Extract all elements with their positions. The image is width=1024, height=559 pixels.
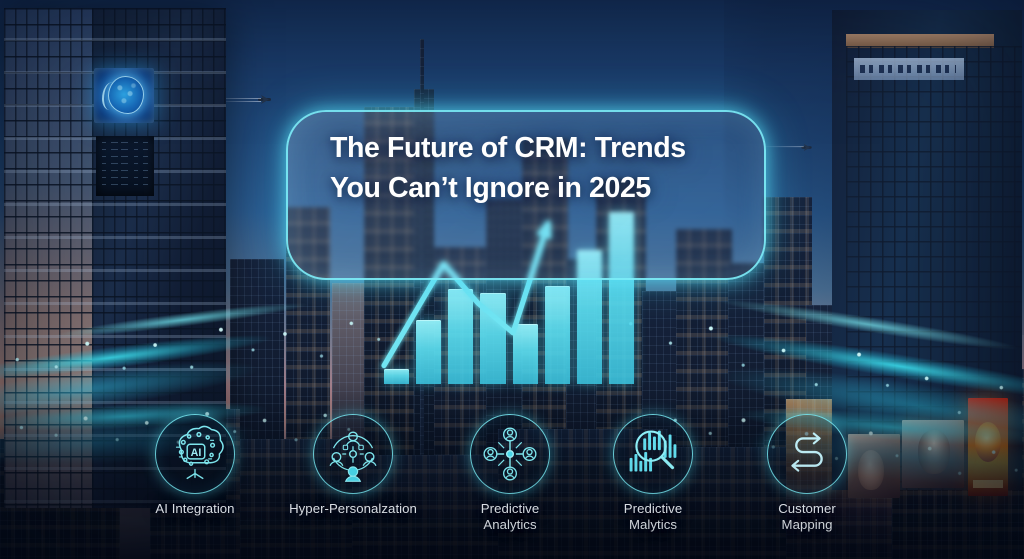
data-billboard <box>96 136 154 196</box>
feature-icon-row: AI AI Integration <box>0 414 1024 544</box>
feature-item-predictive-malytics[interactable]: Predictive Malytics <box>574 414 732 532</box>
feature-item-predictive-analytics[interactable]: Predictive Analytics <box>431 414 589 532</box>
feature-label-predictive-malytics: Predictive Malytics <box>574 501 732 532</box>
people-network-icon-svg <box>314 415 392 493</box>
journey-path-arrows-icon <box>767 414 847 494</box>
feature-item-hyper-personalization[interactable]: Hyper-Personalzation <box>274 414 432 517</box>
code-text-decoration <box>102 142 148 190</box>
label-line-1: Customer <box>728 501 886 517</box>
feature-item-ai-integration[interactable]: AI AI Integration <box>116 414 274 517</box>
feature-label-hyper-personalization: Hyper-Personalzation <box>274 501 432 517</box>
brain-circuit-ai-icon-svg: AI <box>156 415 234 493</box>
ai-icon-text: AI <box>191 447 202 459</box>
feature-label-predictive-analytics: Predictive Analytics <box>431 501 589 532</box>
label-line-2: Analytics <box>431 517 589 533</box>
label-line-2: Mapping <box>728 517 886 533</box>
page-title: The Future of CRM: Trends You Can’t Igno… <box>286 128 766 209</box>
hero-banner-image: The Future of CRM: Trends You Can’t Igno… <box>0 0 1024 559</box>
label-line-2: Malytics <box>574 517 732 533</box>
magnifier-bar-chart-icon-svg <box>614 415 692 493</box>
journey-path-arrows-icon-svg <box>768 415 846 493</box>
feature-label-ai-integration: AI Integration <box>116 501 274 517</box>
ai-brain-billboard <box>94 68 154 123</box>
node-network-users-icon <box>470 414 550 494</box>
title-line-1: The Future of CRM: Trends <box>330 128 722 168</box>
brain-circuit-ai-icon: AI <box>155 414 235 494</box>
node-network-users-icon-svg <box>471 415 549 493</box>
feature-item-customer-mapping[interactable]: Customer Mapping <box>728 414 886 532</box>
head-profile-icon <box>102 82 120 110</box>
magnifier-bar-chart-icon <box>613 414 693 494</box>
people-network-icon <box>313 414 393 494</box>
feature-label-customer-mapping: Customer Mapping <box>728 501 886 532</box>
label-line-1: Predictive <box>431 501 589 517</box>
title-line-2: You Can’t Ignore in 2025 <box>330 168 722 208</box>
building-signage <box>854 58 964 80</box>
label-line-1: Predictive <box>574 501 732 517</box>
